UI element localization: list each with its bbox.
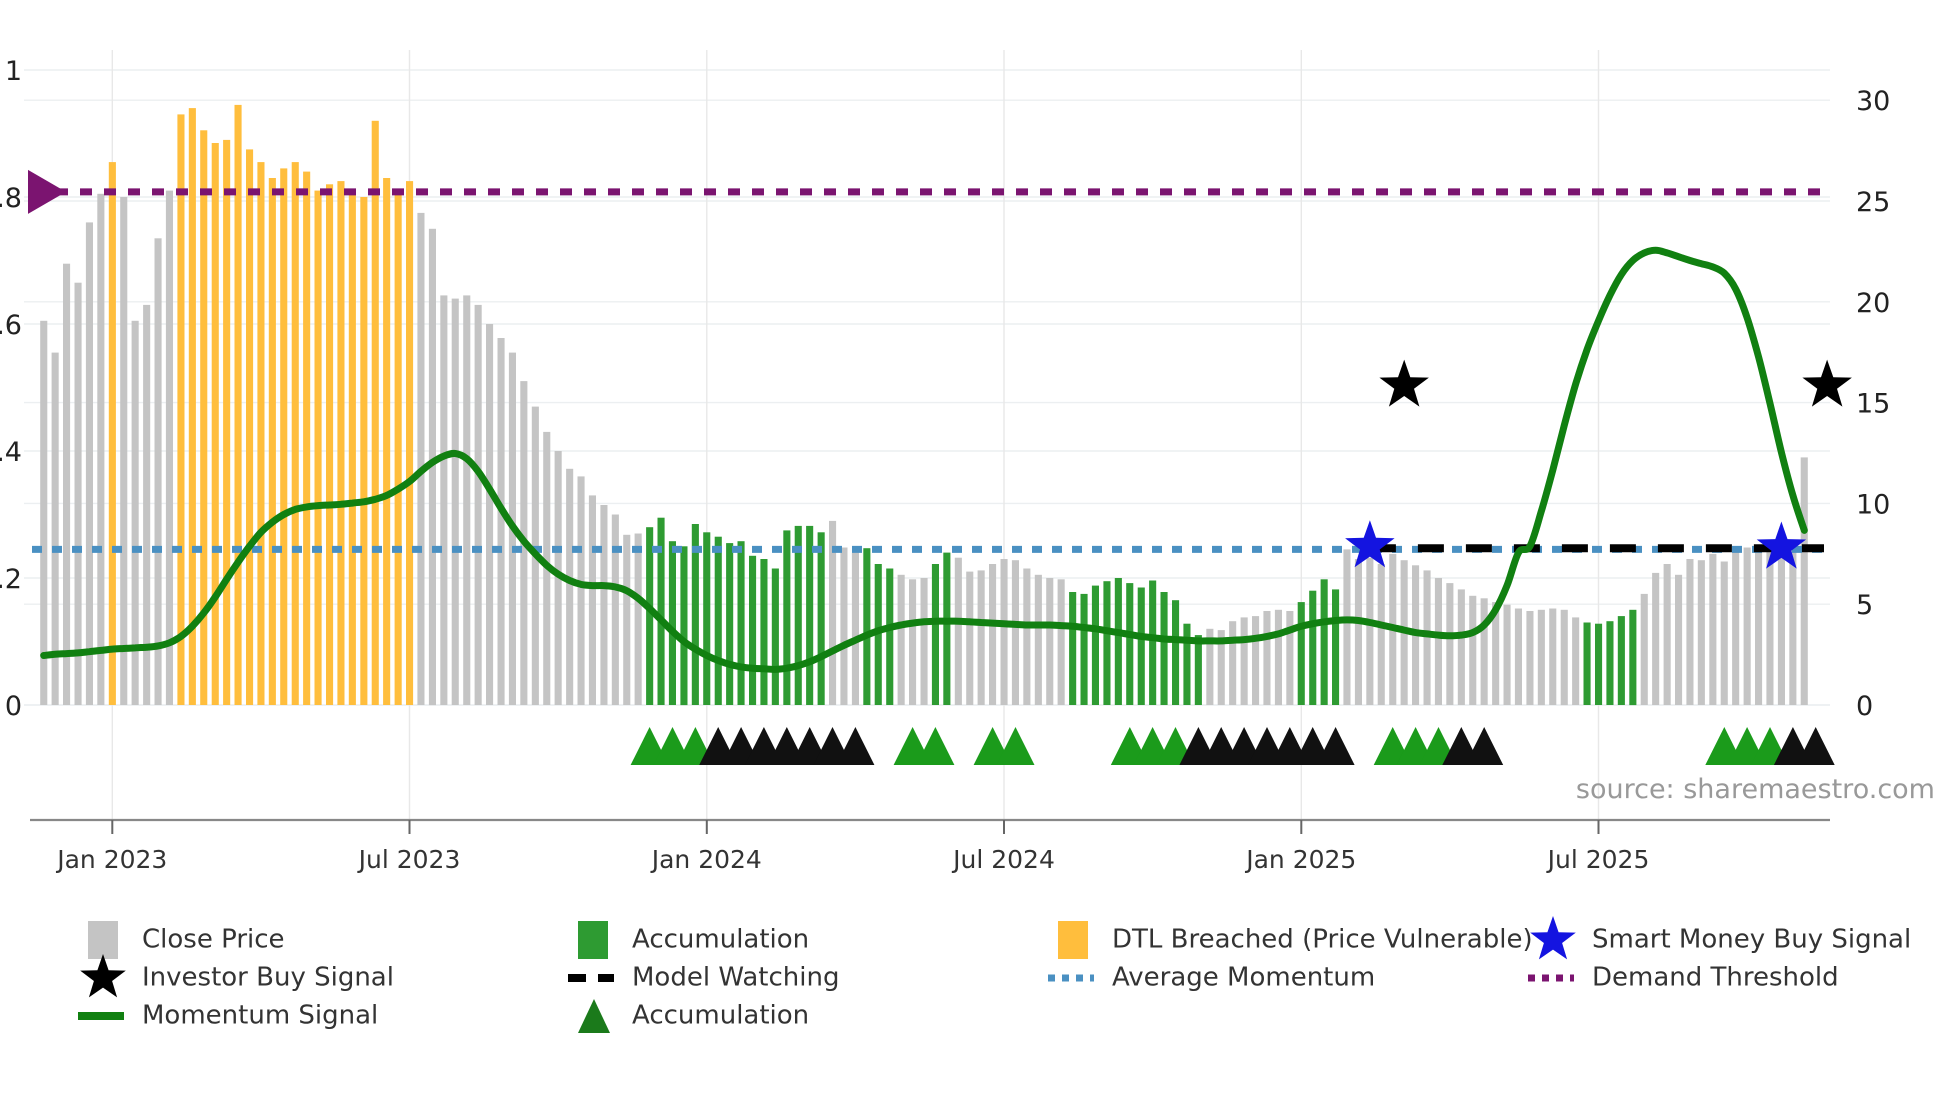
bar-normal-38 [475,305,482,705]
bar-dtl-20 [269,178,276,705]
x-axis: Jan 2023Jul 2023Jan 2024Jul 2024Jan 2025… [30,820,1830,874]
bar-dtl-30 [383,178,390,705]
bar-normal-48 [589,495,596,705]
legend-label-demand-threshold: Demand Threshold [1592,963,1839,993]
bar-dtl-6 [109,162,116,705]
bar-accumulation-78 [932,564,939,705]
legend-label-accumulation-triangle: Accumulation [632,1001,809,1031]
bar-dtl-29 [372,121,379,705]
bar-normal-71 [852,553,859,705]
bar-normal-5 [97,194,104,705]
bar-normal-131 [1538,610,1545,705]
bar-accumulation-135 [1584,623,1591,706]
bar-normal-128 [1504,605,1511,705]
x-tick-label-1: Jul 2023 [357,845,461,874]
bar-normal-2 [63,264,70,705]
bar-accumulation-59 [715,537,722,705]
bar-normal-145 [1698,560,1705,705]
bar-normal-105 [1241,617,1248,705]
x-tick-label-5: Jul 2025 [1546,845,1650,874]
left-axis-tick-0.8: 0.8 [0,183,22,214]
bar-accumulation-99 [1172,600,1179,705]
bar-normal-50 [612,515,619,706]
bar-normal-86 [1023,569,1030,706]
bar-normal-81 [966,572,973,705]
bar-accumulation-98 [1161,592,1168,705]
bar-normal-47 [578,476,585,705]
left-axis-tick-0.6: 0.6 [0,310,22,341]
bar-dtl-15 [212,143,219,705]
accumulation-triangle-icon-11 [916,727,954,765]
bar-normal-123 [1446,583,1453,705]
legend-star-icon-investor-buy-signal [80,954,126,997]
legend-label-dtl-breached: DTL Breached (Price Vulnerable) [1112,925,1533,955]
bar-normal-84 [1001,559,1008,705]
right-axis-tick-5: 5 [1856,590,1873,621]
bar-accumulation-113 [1332,589,1339,705]
demand-threshold-arrow-icon [28,170,66,214]
bar-dtl-32 [406,181,413,705]
right-axis-tick-20: 20 [1856,288,1890,319]
bar-normal-3 [75,283,82,705]
bar-accumulation-96 [1138,588,1145,706]
bar-normal-132 [1549,609,1556,706]
bar-normal-39 [486,324,493,705]
left-axis-tick-0.2: 0.2 [0,564,22,595]
bar-normal-70 [840,548,847,706]
bar-normal-33 [417,213,424,705]
bar-accumulation-110 [1298,602,1305,705]
bar-normal-149 [1744,548,1751,706]
accumulation-markers [631,727,1835,765]
legend-item-demand-threshold[interactable]: Demand Threshold [1528,963,1839,993]
bar-dtl-16 [223,140,230,705]
bar-accumulation-112 [1321,579,1328,705]
bar-accumulation-54 [658,518,665,705]
bar-normal-0 [40,321,47,705]
investor-buy-star-icon-1 [1802,360,1852,407]
bar-accumulation-136 [1595,624,1602,705]
bar-normal-35 [440,295,447,705]
legend-star-icon-smart-money-buy-signal [1530,916,1576,959]
bar-dtl-19 [257,162,264,705]
bar-accumulation-55 [669,541,676,705]
bar-accumulation-138 [1618,616,1625,705]
bar-dtl-13 [189,108,196,705]
bar-accumulation-79 [943,553,950,705]
legend-item-momentum-signal[interactable]: Momentum Signal [78,1001,378,1031]
legend-label-momentum-signal: Momentum Signal [142,1001,378,1031]
bar-normal-7 [120,197,127,705]
bar-normal-51 [623,535,630,705]
bar-normal-141 [1652,573,1659,705]
x-tick-label-0: Jan 2023 [55,845,167,874]
investor-buy-star-icon-0 [1379,360,1429,407]
right-axis-tick-0: 0 [1856,691,1873,722]
bar-normal-117 [1378,564,1385,705]
left-axis-tick-1: 1 [5,56,22,87]
accumulation-triangle-icon-9 [836,727,874,765]
bar-accumulation-94 [1115,578,1122,705]
bar-normal-153 [1789,549,1796,705]
bar-normal-40 [498,338,505,705]
bar-accumulation-72 [863,548,870,705]
bar-normal-80 [955,558,962,705]
source-label-text: source: sharemaestro.com [1576,774,1935,805]
legend-item-investor-buy-signal[interactable]: Investor Buy Signal [80,954,394,997]
bar-accumulation-63 [760,559,767,705]
bar-accumulation-139 [1629,610,1636,705]
bar-normal-82 [978,570,985,705]
left-axis-tick-0.4: 0.4 [0,437,22,468]
bar-normal-85 [1012,560,1019,705]
legend-item-accumulation-triangle[interactable]: Accumulation [578,999,809,1033]
bar-normal-147 [1721,562,1728,706]
bar-normal-140 [1641,594,1648,705]
legend-label-investor-buy-signal: Investor Buy Signal [142,963,394,993]
bar-normal-76 [909,579,916,705]
bar-accumulation-95 [1126,583,1133,705]
bar-normal-148 [1732,546,1739,705]
bar-accumulation-91 [1081,594,1088,705]
legend-label-accumulation-bar: Accumulation [632,925,809,955]
bar-accumulation-74 [886,569,893,706]
legend-triangle-icon-accumulation-triangle [578,999,610,1033]
bar-accumulation-62 [749,556,756,705]
accumulation-triangle-icon-13 [997,727,1035,765]
bar-normal-122 [1435,578,1442,705]
bar-dtl-27 [349,194,356,705]
bar-normal-107 [1263,611,1270,705]
bar-normal-10 [155,238,162,705]
legend-swatch-accumulation-bar [578,921,608,959]
x-tick-label-2: Jan 2024 [650,845,762,874]
right-axis-tick-25: 25 [1856,187,1890,218]
bar-normal-36 [452,299,459,705]
bar-normal-129 [1515,609,1522,706]
bar-dtl-24 [315,191,322,705]
bar-normal-77 [921,578,928,705]
bar-normal-130 [1526,611,1533,705]
bar-normal-11 [166,191,173,705]
bar-accumulation-56 [680,546,687,705]
bar-accumulation-68 [818,532,825,705]
bar-accumulation-101 [1195,635,1202,705]
x-tick-label-4: Jan 2025 [1244,845,1356,874]
bar-accumulation-61 [738,541,745,705]
bar-dtl-28 [360,197,367,705]
bar-accumulation-93 [1103,581,1110,705]
bar-dtl-23 [303,172,310,705]
bar-normal-115 [1355,559,1362,705]
bar-normal-75 [898,575,905,705]
legend-item-accumulation-bar[interactable]: Accumulation [578,921,809,959]
bar-dtl-21 [280,168,287,705]
investor-buy-signals [1379,360,1852,407]
bar-accumulation-97 [1149,581,1156,706]
momentum-accumulation-chart: Jan 2023Jul 2023Jan 2024Jul 2024Jan 2025… [0,0,1960,1102]
bar-accumulation-60 [726,543,733,705]
bar-normal-116 [1366,558,1373,705]
bar-accumulation-53 [646,527,653,705]
accumulation-triangle-icon-28 [1465,727,1503,765]
bar-normal-46 [566,469,573,705]
bar-normal-83 [989,564,996,705]
bar-normal-52 [635,534,642,706]
bar-accumulation-100 [1183,624,1190,705]
bar-normal-152 [1778,558,1785,705]
bar-normal-89 [1058,579,1065,705]
bar-normal-87 [1035,575,1042,705]
bar-accumulation-137 [1606,621,1613,705]
bar-normal-126 [1481,598,1488,705]
source-attribution: source: sharemaestro.com [1576,774,1935,805]
bar-dtl-26 [337,181,344,705]
bar-normal-88 [1046,578,1053,705]
left-axis-tick-0: 0 [5,691,22,722]
bar-accumulation-90 [1069,592,1076,705]
chart-root: Jan 2023Jul 2023Jan 2024Jul 2024Jan 2025… [0,0,1960,1102]
bar-normal-125 [1469,596,1476,705]
bar-dtl-18 [246,149,253,705]
right-axis-tick-10: 10 [1856,489,1890,520]
legend-item-close-price[interactable]: Close Price [88,921,285,959]
legend-label-average-momentum: Average Momentum [1112,963,1375,993]
right-axis-tick-30: 30 [1856,86,1890,117]
legend-item-model-watching[interactable]: Model Watching [568,963,839,993]
bar-normal-104 [1229,621,1236,705]
legend: Close PriceAccumulationDTL Breached (Pri… [78,916,1911,1033]
legend-item-smart-money-buy-signal[interactable]: Smart Money Buy Signal [1530,916,1911,959]
left-axis-labels: 00.20.40.60.81 [0,56,22,722]
bar-dtl-12 [177,114,184,705]
bar-normal-146 [1709,554,1716,705]
bar-normal-124 [1458,589,1465,705]
bar-normal-151 [1766,551,1773,705]
legend-swatch-close-price [88,921,118,959]
bar-normal-114 [1343,549,1350,705]
bar-accumulation-111 [1309,591,1316,705]
bar-normal-4 [86,222,93,705]
x-tick-label-3: Jul 2024 [951,845,1055,874]
bar-dtl-22 [292,162,299,705]
bar-normal-134 [1572,617,1579,705]
bar-dtl-31 [395,191,402,705]
accumulation-triangle-icon-23 [1317,727,1355,765]
right-axis-labels: 051015202530 [1856,86,1890,722]
bar-accumulation-64 [772,569,779,706]
bar-normal-49 [600,505,607,705]
bar-normal-133 [1561,610,1568,705]
legend-item-average-momentum[interactable]: Average Momentum [1048,963,1375,993]
legend-label-smart-money-buy-signal: Smart Money Buy Signal [1592,925,1911,955]
bar-normal-37 [463,295,470,705]
bar-normal-142 [1664,564,1671,705]
bar-normal-143 [1675,575,1682,705]
bar-accumulation-92 [1092,586,1099,705]
legend-label-close-price: Close Price [142,925,285,955]
bar-normal-109 [1286,611,1293,705]
legend-swatch-dtl-breached [1058,921,1088,959]
bar-normal-154 [1801,457,1808,705]
bar-normal-150 [1755,545,1762,705]
right-axis-tick-15: 15 [1856,389,1890,420]
bar-dtl-25 [326,184,333,705]
bar-accumulation-58 [703,532,710,705]
reference-lines [32,192,1824,550]
bar-normal-144 [1686,559,1693,705]
bar-normal-108 [1275,610,1282,705]
legend-label-model-watching: Model Watching [632,963,839,993]
legend-item-dtl-breached[interactable]: DTL Breached (Price Vulnerable) [1058,921,1533,959]
bar-accumulation-65 [783,530,790,705]
bar-normal-106 [1252,616,1259,705]
demand-threshold-marker [28,170,66,214]
